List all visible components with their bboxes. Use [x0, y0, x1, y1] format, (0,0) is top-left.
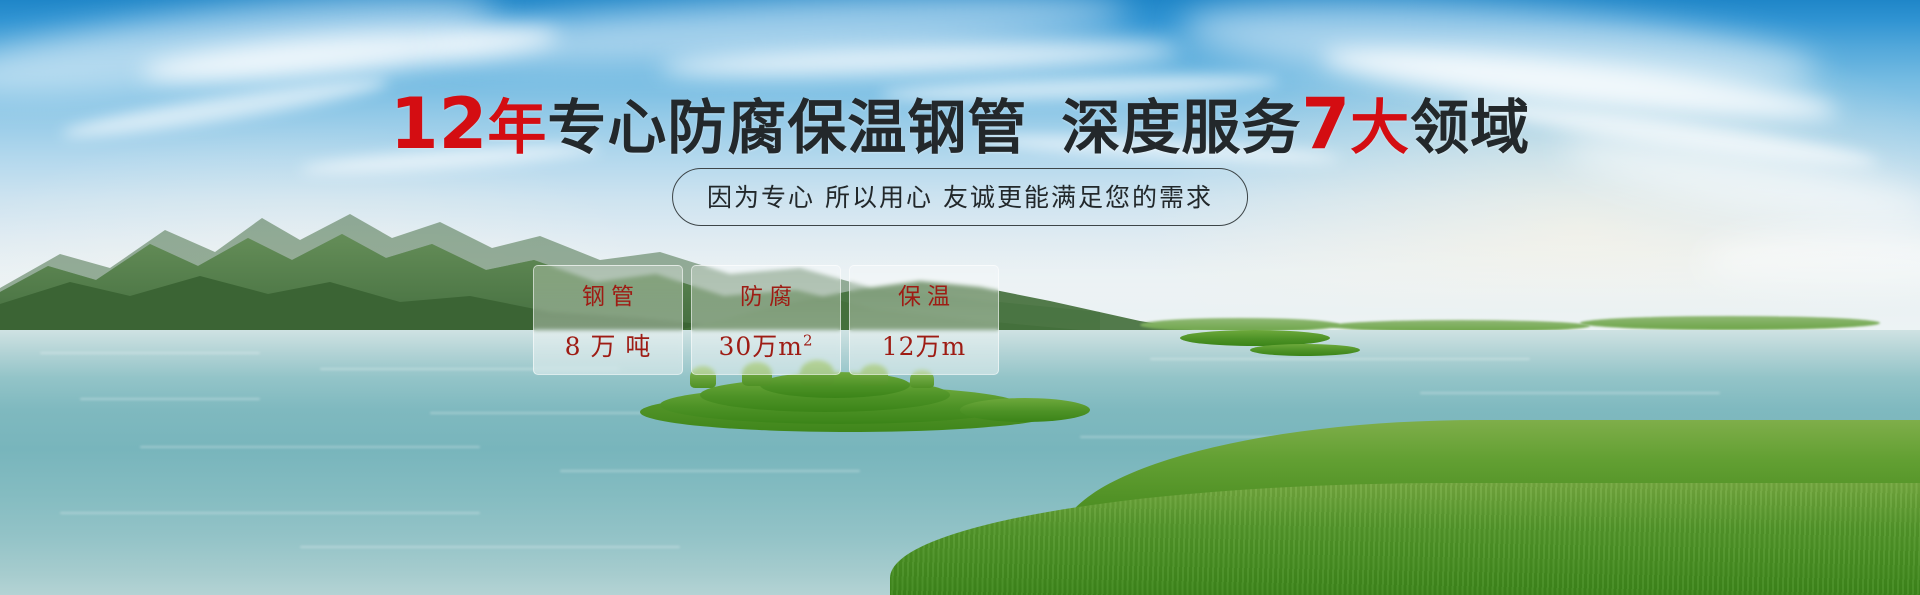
stat-card: 防腐 30万m2 [691, 265, 841, 375]
stat-card-value-text: 12万m [882, 332, 967, 361]
hero-banner: 12年专心防腐保温钢管深度服务7大领域 因为专心 所以用心 友诚更能满足您的需求… [0, 0, 1920, 595]
headline-years-unit: 年 [487, 93, 547, 162]
stat-card-value-text: 30万m [718, 332, 803, 361]
headline-fields-number: 7 [1301, 83, 1350, 165]
stat-card-value-text: 8 万 吨 [565, 332, 652, 361]
stat-card-label: 钢管 [576, 277, 640, 311]
stat-card-value: 30万m2 [718, 327, 813, 363]
headline-years-number: 12 [390, 83, 487, 165]
headline-segment-3: 深度服务 [1061, 93, 1301, 162]
subtitle-pill: 因为专心 所以用心 友诚更能满足您的需求 [672, 168, 1248, 226]
headline-fields-unit: 大 [1350, 93, 1410, 162]
stat-card: 保温 12万m [849, 265, 999, 375]
stat-card: 钢管 8 万 吨 [533, 265, 683, 375]
stat-card-label: 防腐 [734, 277, 798, 311]
stat-card-group: 钢管 8 万 吨 防腐 30万m2 保温 12万m [533, 265, 999, 375]
page-title: 12年专心防腐保温钢管深度服务7大领域 [0, 89, 1920, 159]
headline-segment-2: 专心防腐保温钢管 [547, 93, 1027, 162]
stat-card-label: 保温 [892, 277, 956, 311]
stat-card-value: 12万m [882, 327, 967, 363]
headline-segment-5: 领域 [1410, 93, 1530, 162]
stat-card-value-sup: 2 [803, 332, 814, 350]
stat-card-value: 8 万 吨 [565, 327, 652, 363]
